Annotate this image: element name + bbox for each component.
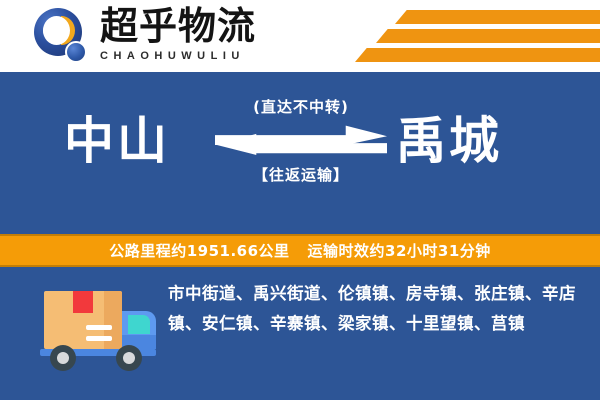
brand-name-en: CHAOHUWULIU: [100, 49, 300, 63]
route-section: 中山 (直达不中转) 【往返运输】 禹城: [0, 72, 600, 234]
distance-text: 公路里程约1951.66公里: [109, 240, 289, 261]
brand-name-cn: 超乎物流: [100, 4, 300, 48]
destination-city: 禹城: [396, 112, 502, 170]
stripe-3: [355, 48, 600, 62]
decorative-stripes: [330, 8, 600, 66]
origin-city: 中山: [64, 112, 170, 170]
coverage-section: 市中街道、禹兴街道、伦镇镇、房寺镇、张庄镇、辛店镇、安仁镇、辛寨镇、梁家镇、十里…: [0, 267, 600, 400]
bidirectional-arrow-icon: [215, 123, 387, 157]
stripe-1: [395, 10, 600, 24]
route-info-bar: 公路里程约1951.66公里 运输时效约32小时31分钟: [0, 234, 600, 267]
logo-crescent-mask: [43, 16, 70, 45]
truck-wheel-rear: [50, 345, 76, 371]
duration-text: 运输时效约32小时31分钟: [308, 240, 491, 261]
truck-box-label: [73, 291, 93, 313]
chaohu-logo-icon: [32, 8, 102, 66]
route-arrow-block: (直达不中转) 【往返运输】: [215, 96, 387, 185]
route-note-bottom: 【往返运输】: [215, 164, 387, 185]
logistics-route-banner: 超乎物流 CHAOHUWULIU 中山 (直达不中转) 【往返运输】 禹城 公路…: [0, 0, 600, 400]
stripe-2: [376, 29, 600, 43]
truck-stripe-1: [86, 325, 112, 330]
truck-window: [128, 315, 150, 334]
logo-accent-dot: [65, 41, 87, 63]
coverage-town-list: 市中街道、禹兴街道、伦镇镇、房寺镇、张庄镇、辛店镇、安仁镇、辛寨镇、梁家镇、十里…: [168, 279, 584, 339]
delivery-truck-icon: [26, 283, 158, 369]
brand-block: 超乎物流 CHAOHUWULIU: [100, 4, 300, 63]
truck-stripe-2: [86, 336, 112, 341]
banner-header: 超乎物流 CHAOHUWULIU: [0, 0, 600, 72]
truck-wheel-front: [116, 345, 142, 371]
route-note-top: (直达不中转): [215, 96, 387, 117]
